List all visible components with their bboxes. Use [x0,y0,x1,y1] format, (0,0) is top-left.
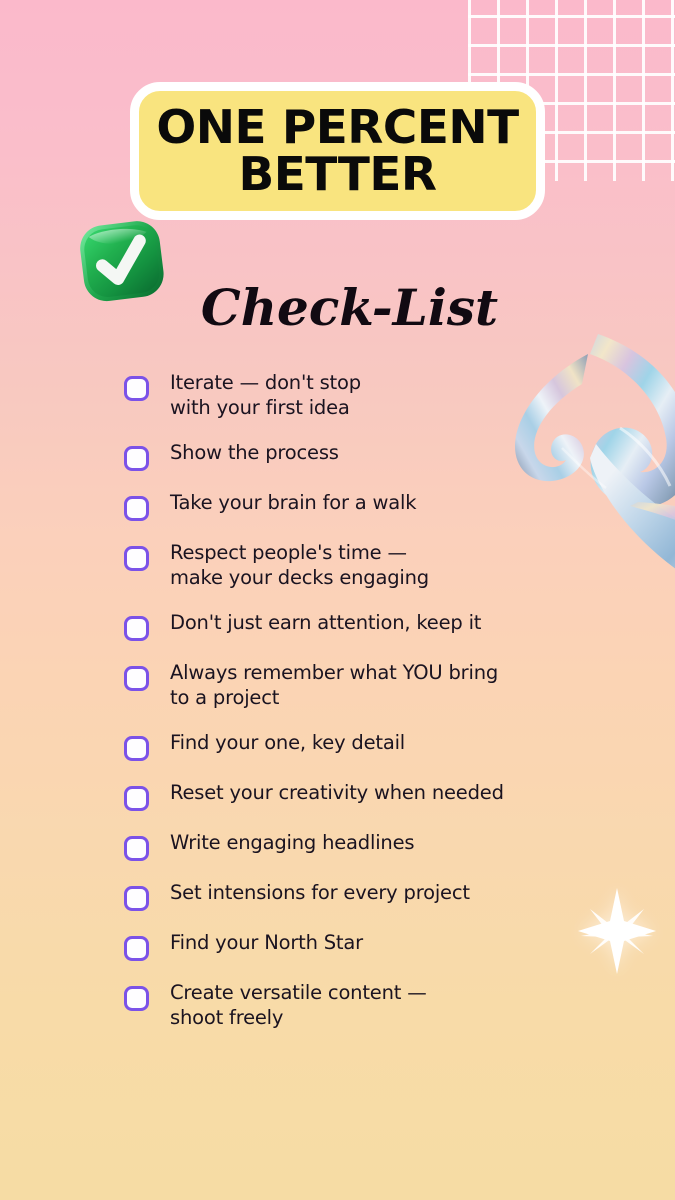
poster-canvas: ONE PERCENT BETTER [0,0,675,1200]
list-item-label: Don't just earn attention, keep it [170,610,481,636]
checkbox-icon[interactable] [124,496,149,521]
list-item[interactable]: Reset your creativity when needed [124,780,594,811]
title-banner: ONE PERCENT BETTER [130,82,545,220]
list-item-label: Show the process [170,440,339,466]
subheading: Check-List [201,283,498,333]
list-item[interactable]: Take your brain for a walk [124,490,594,521]
checkbox-icon[interactable] [124,376,149,401]
list-item-label: Iterate — don't stop with your first ide… [170,370,361,421]
list-item-label: Write engaging headlines [170,830,414,856]
list-item-label: Create versatile content — shoot freely [170,980,427,1031]
checkbox-icon[interactable] [124,886,149,911]
checkbox-icon[interactable] [124,616,149,641]
list-item[interactable]: Create versatile content — shoot freely [124,980,594,1031]
checkbox-icon[interactable] [124,736,149,761]
list-item[interactable]: Respect people's time — make your decks … [124,540,594,591]
list-item-label: Set intensions for every project [170,880,470,906]
list-item[interactable]: Iterate — don't stop with your first ide… [124,370,594,421]
list-item[interactable]: Find your one, key detail [124,730,594,761]
green-check-badge-icon [76,219,170,305]
list-item[interactable]: Always remember what YOU bring to a proj… [124,660,594,711]
checkbox-icon[interactable] [124,546,149,571]
list-item-label: Find your North Star [170,930,363,956]
checkbox-icon[interactable] [124,446,149,471]
page-title: ONE PERCENT BETTER [135,104,540,198]
list-item[interactable]: Write engaging headlines [124,830,594,861]
list-item-label: Respect people's time — make your decks … [170,540,429,591]
checkbox-icon[interactable] [124,936,149,961]
list-item[interactable]: Show the process [124,440,594,471]
list-item[interactable]: Set intensions for every project [124,880,594,911]
list-item-label: Find your one, key detail [170,730,405,756]
list-item-label: Reset your creativity when needed [170,780,504,806]
list-item-label: Always remember what YOU bring to a proj… [170,660,498,711]
list-item[interactable]: Don't just earn attention, keep it [124,610,594,641]
checklist: Iterate — don't stop with your first ide… [124,370,594,1031]
checkbox-icon[interactable] [124,786,149,811]
checkbox-icon[interactable] [124,836,149,861]
list-item-label: Take your brain for a walk [170,490,416,516]
list-item[interactable]: Find your North Star [124,930,594,961]
checkbox-icon[interactable] [124,986,149,1011]
checkbox-icon[interactable] [124,666,149,691]
